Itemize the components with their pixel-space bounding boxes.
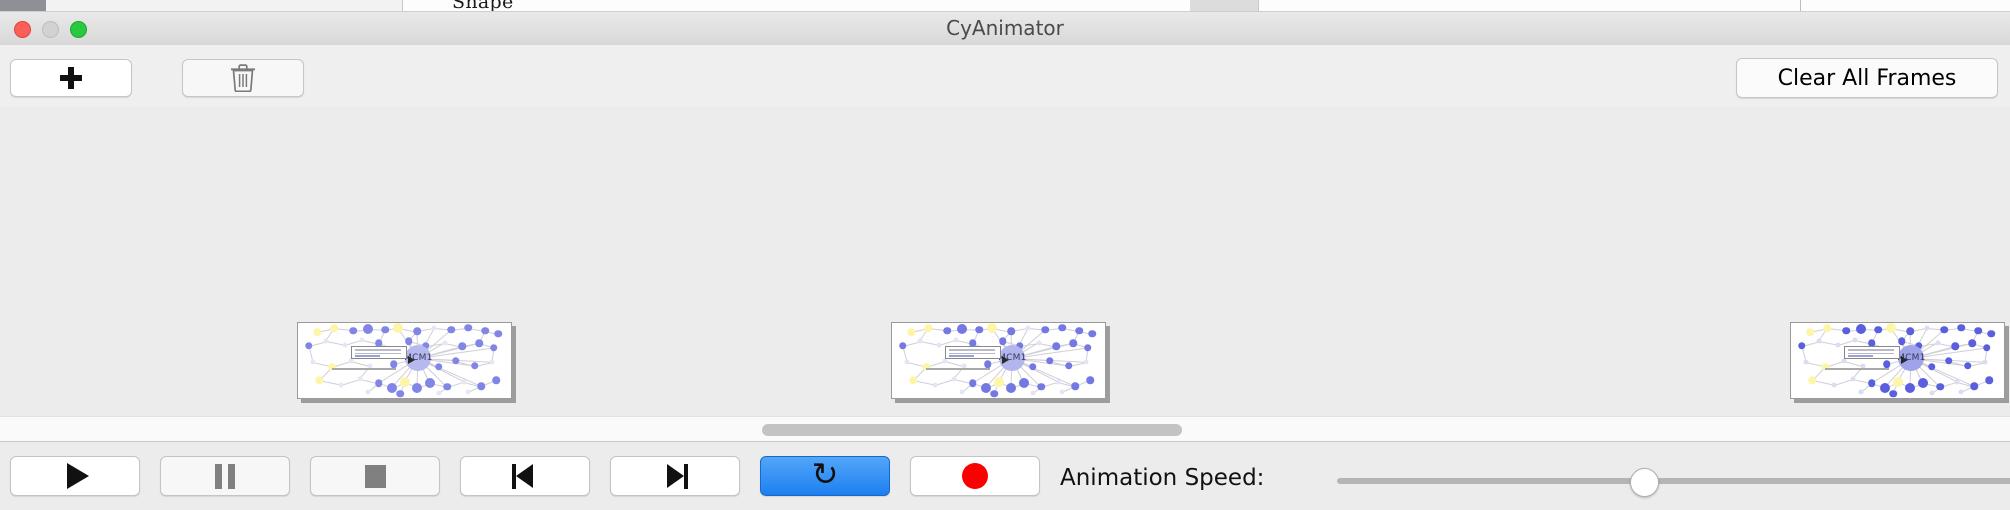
graph-node (1964, 362, 1972, 370)
graph-node (436, 390, 441, 395)
graph-node (1071, 382, 1079, 390)
graph-node (1905, 383, 1915, 393)
graph-node (1945, 357, 1953, 365)
graph-node (1883, 361, 1891, 369)
graph-node (466, 390, 471, 395)
graph-node (313, 328, 321, 336)
graph-node (910, 376, 918, 384)
graph-node (976, 326, 984, 334)
graph-node (1019, 378, 1029, 388)
graph-node (342, 342, 347, 347)
toolbar: Clear All Frames (0, 45, 2010, 109)
graph-node (1985, 376, 1993, 384)
graph-note-line (332, 368, 396, 370)
graph-node (960, 390, 965, 395)
animation-speed-label: Animation Speed: (1060, 465, 1264, 491)
graph-node (1929, 390, 1934, 395)
graph-node (1816, 339, 1821, 344)
graph-node (1803, 360, 1808, 365)
graph-node (1029, 363, 1037, 371)
skip-backward-icon (512, 464, 538, 489)
tooltip-text-line (1848, 355, 1873, 357)
graph-node (1958, 324, 1966, 332)
graph-node (492, 376, 500, 384)
tooltip-text-line (1848, 353, 1893, 355)
graph-node (357, 376, 362, 381)
graph-node (1898, 337, 1906, 345)
tooltip-text-line (1848, 349, 1893, 351)
graph-node (1959, 390, 1964, 395)
graph-node (494, 330, 502, 338)
graph-node (1088, 330, 1096, 338)
graph-node (1907, 328, 1915, 336)
tooltip-text-line (949, 353, 994, 355)
frame-thumbnail: MCM1 (1791, 323, 2004, 398)
tooltip-pointer (408, 356, 415, 364)
graph-node (1798, 342, 1806, 350)
loop-button[interactable]: ↻ (760, 456, 890, 496)
graph-node (1970, 382, 1978, 390)
graph-node (1951, 343, 1959, 351)
graph-node (1843, 327, 1851, 335)
graph-node (443, 383, 451, 391)
graph-node (1069, 340, 1077, 348)
timeline-scrollbar[interactable] (0, 416, 2010, 442)
tooltip-text-line (355, 349, 400, 351)
plus-icon (59, 66, 83, 90)
tooltip-text-line (949, 355, 974, 357)
graph-node (1852, 337, 1857, 342)
graph-node (323, 339, 328, 344)
graph-node (375, 379, 383, 387)
tooltip-pointer (1002, 356, 1009, 364)
graph-node (1056, 379, 1061, 384)
skip-to-end-button[interactable] (610, 456, 740, 496)
graph-node (359, 337, 364, 342)
graph-node (932, 382, 937, 387)
graph-node (425, 378, 435, 388)
graph-node (969, 379, 977, 387)
graph-node (1835, 342, 1840, 347)
graph-node (414, 328, 422, 336)
graph-node (1084, 344, 1092, 352)
graph-node (994, 377, 1004, 387)
graph-node (957, 324, 967, 334)
graph-node (1806, 328, 1814, 336)
graph-node (396, 390, 404, 398)
graph-node (1889, 390, 1897, 398)
graph-node (350, 327, 358, 335)
page-title: CyAnimator (0, 12, 2010, 45)
graph-node (482, 327, 490, 335)
timeline-frame[interactable]: MCM1 (1790, 322, 2005, 399)
graph-node (405, 337, 413, 345)
graph-node (1859, 390, 1864, 395)
graph-node (1955, 379, 1960, 384)
scrollbar-thumb[interactable] (762, 424, 1182, 436)
graph-node (305, 342, 313, 350)
graph-node (1831, 382, 1836, 387)
graph-node (904, 360, 909, 365)
add-frame-button[interactable] (10, 59, 132, 97)
graph-node (1037, 383, 1045, 391)
graph-node (1893, 377, 1903, 387)
graph-node (1083, 360, 1088, 365)
graph-node (1868, 379, 1876, 387)
graph-node (338, 382, 343, 387)
graph-node (471, 362, 479, 370)
graph-node (981, 383, 991, 393)
graph-node (1809, 376, 1817, 384)
graph-node (310, 360, 315, 365)
graph-node (1925, 326, 1930, 331)
graph-note-line (1825, 368, 1889, 370)
graph-note-line (926, 368, 990, 370)
graph-tooltip (1844, 346, 1899, 360)
graph-node (382, 326, 390, 334)
record-icon (962, 463, 988, 489)
graph-tooltip (945, 346, 1000, 360)
graph-node (458, 343, 466, 351)
graph-node (1052, 343, 1060, 351)
graph-node (1006, 383, 1016, 393)
graph-node (1935, 340, 1940, 345)
graph-node (984, 361, 992, 369)
graph-node (1968, 340, 1976, 348)
graph-node (917, 339, 922, 344)
graph-node (944, 327, 952, 335)
animation-speed-slider[interactable] (1337, 478, 2010, 484)
graph-node (1886, 323, 1896, 333)
graph-node (953, 337, 958, 342)
graph-node (475, 340, 483, 348)
graph-node (1941, 326, 1949, 334)
graph-node (477, 382, 485, 390)
graph-node (1936, 383, 1944, 391)
pause-button[interactable] (160, 456, 290, 496)
timeline-panel[interactable]: MCM1MCM1MCM1 12131415161718 Seconds (0, 107, 2010, 416)
tooltip-pointer (1901, 356, 1908, 364)
graph-node (1875, 326, 1883, 334)
pause-icon (214, 464, 236, 489)
graph-node (899, 342, 907, 350)
graph-node (1030, 390, 1035, 395)
graph-node (465, 324, 473, 332)
frame-thumbnail: MCM1 (298, 323, 511, 398)
graph-node (1982, 360, 1987, 365)
graph-node (1850, 376, 1855, 381)
graph-node (390, 361, 398, 369)
timeline-frame[interactable]: MCM1 (891, 322, 1106, 399)
graph-node (489, 360, 494, 365)
graph-node (1856, 324, 1866, 334)
graph-node (1928, 363, 1936, 371)
graph-node (435, 363, 443, 371)
graph-node (1046, 357, 1054, 365)
delete-frame-button[interactable] (182, 59, 304, 97)
graph-tooltip (351, 346, 406, 360)
tooltip-text-line (355, 353, 400, 355)
graph-node (990, 390, 998, 398)
animation-speed-slider-thumb[interactable] (1630, 468, 1659, 497)
stop-button[interactable] (310, 456, 440, 496)
play-button[interactable] (10, 456, 140, 496)
graph-node (987, 323, 997, 333)
title-bar: CyAnimator (0, 12, 2010, 46)
graph-node (1918, 378, 1928, 388)
graph-node (330, 325, 338, 333)
graph-node (1008, 328, 1016, 336)
skip-to-start-button[interactable] (460, 456, 590, 496)
timeline-frame[interactable]: MCM1 (297, 322, 512, 399)
cyanimator-window: Shape CyAnimator Clear All Frames MCM1 (0, 0, 2010, 510)
graph-node (366, 390, 371, 395)
graph-node (1880, 383, 1890, 393)
graph-node (452, 357, 460, 365)
graph-node (999, 337, 1007, 345)
graph-node (442, 340, 447, 345)
graph-node (1059, 324, 1067, 332)
graph-node (1042, 326, 1050, 334)
graph-node (907, 328, 915, 336)
graph-node (1060, 390, 1065, 395)
graph-node (1036, 340, 1041, 345)
tooltip-text-line (949, 349, 994, 351)
graph-node (316, 376, 324, 384)
skip-forward-icon (662, 464, 688, 489)
play-icon (67, 463, 89, 489)
graph-node (936, 342, 941, 347)
graph-node (1076, 327, 1084, 335)
graph-node (1975, 327, 1983, 335)
graph-node (490, 344, 498, 352)
graph-node (387, 383, 397, 393)
graph-node (393, 323, 403, 333)
graph-node (951, 376, 956, 381)
graph-node (1065, 362, 1073, 370)
graph-node (448, 326, 456, 334)
graph-node (1987, 330, 1995, 338)
graph-node (363, 324, 373, 334)
clear-all-frames-button[interactable]: Clear All Frames (1736, 58, 1998, 98)
graph-node (462, 379, 467, 384)
graph-node (1086, 376, 1094, 384)
graph-node (1983, 344, 1991, 352)
trash-icon (230, 64, 256, 92)
loop-icon: ↻ (812, 459, 839, 489)
graph-node (412, 383, 422, 393)
playback-bar: ↻ Animation Speed: (0, 443, 2010, 510)
graph-node (432, 326, 437, 331)
frame-thumbnail: MCM1 (892, 323, 1105, 398)
graph-node (400, 377, 410, 387)
record-button[interactable] (910, 456, 1040, 496)
tooltip-text-line (355, 355, 380, 357)
graph-node (1823, 325, 1831, 333)
stop-icon (365, 465, 386, 488)
graph-node (1026, 326, 1031, 331)
graph-node (924, 325, 932, 333)
